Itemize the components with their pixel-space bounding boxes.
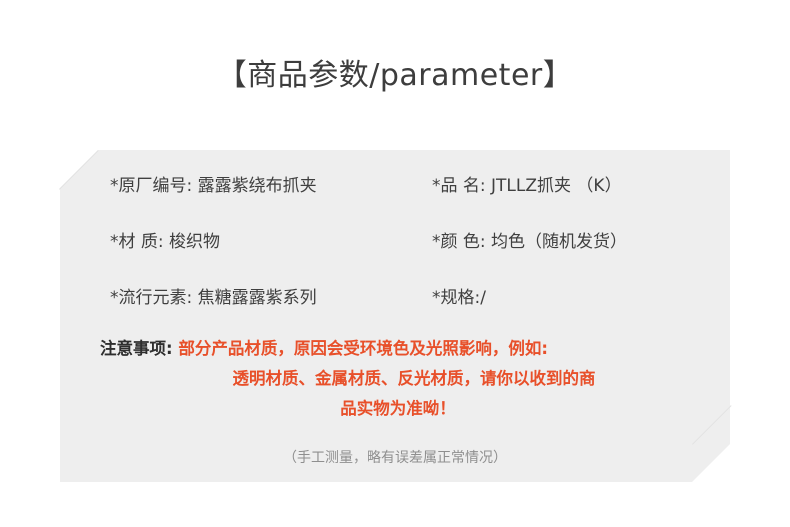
parameter-row: *原厂编号: 露露紫绕布抓夹 *品 名: JTLLZ抓夹 （K） <box>60 174 730 230</box>
parameter-trend-element: *流行元素: 焦糖露露紫系列 <box>60 286 400 310</box>
notice-line-2: 透明材质、金属材质、反光材质，请你以收到的商 <box>60 364 730 394</box>
parameter-specification: *规格:/ <box>400 286 730 310</box>
notice-line-3: 品实物为准呦！ <box>60 394 730 424</box>
parameter-grid: *原厂编号: 露露紫绕布抓夹 *品 名: JTLLZ抓夹 （K） *材 质: 梭… <box>60 150 730 342</box>
parameter-color: *颜 色: 均色（随机发货） <box>400 230 730 254</box>
product-parameter-page: 【商品参数/parameter】 *原厂编号: 露露紫绕布抓夹 *品 名: JT… <box>0 0 790 527</box>
notice-line-1: 注意事项: 部分产品材质，原因会受环境色及光照影响，例如: <box>60 334 730 364</box>
parameter-row: *材 质: 梭织物 *颜 色: 均色（随机发货） <box>60 230 730 286</box>
page-title: 【商品参数/parameter】 <box>0 56 790 96</box>
parameter-material: *材 质: 梭织物 <box>60 230 400 254</box>
parameter-factory-code: *原厂编号: 露露紫绕布抓夹 <box>60 174 400 198</box>
notice-label: 注意事项: <box>100 339 173 358</box>
measurement-footnote: （手工测量，略有误差属正常情况） <box>60 447 730 469</box>
notice-text-1: 部分产品材质，原因会受环境色及光照影响，例如: <box>178 339 548 358</box>
parameter-product-name: *品 名: JTLLZ抓夹 （K） <box>400 174 730 198</box>
notice-block: 注意事项: 部分产品材质，原因会受环境色及光照影响，例如: 透明材质、金属材质、… <box>60 334 730 424</box>
